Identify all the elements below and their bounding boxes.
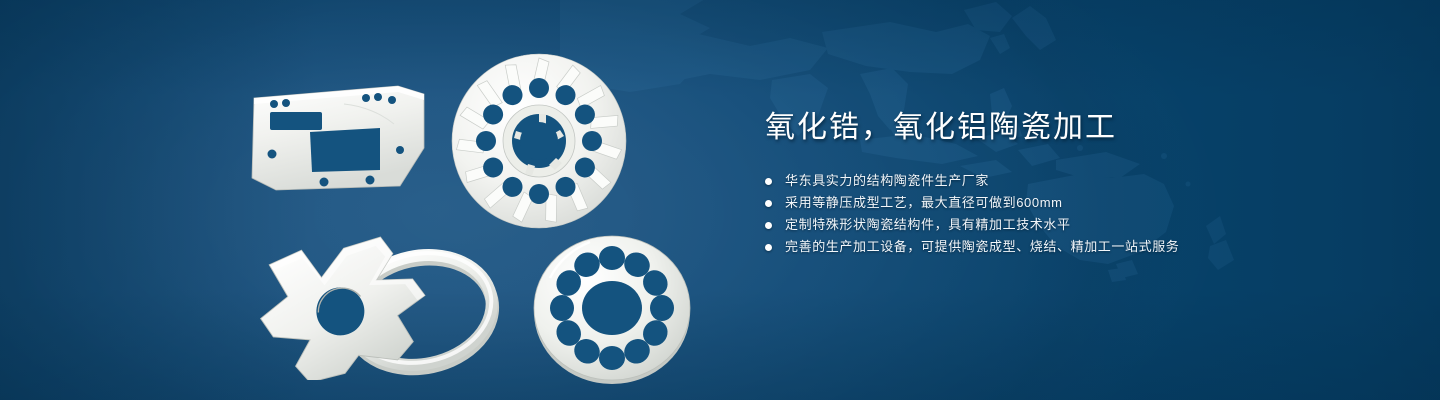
- ceramic-plate: [248, 82, 428, 194]
- page-title: 氧化锆，氧化铝陶瓷加工: [765, 108, 1385, 148]
- banner-copy: 氧化锆，氧化铝陶瓷加工 华东具实力的结构陶瓷件生产厂家 采用等静压成型工艺，最大…: [765, 108, 1385, 258]
- bullet-text: 完善的生产加工设备，可提供陶瓷成型、烧结、精加工一站式服务: [785, 236, 1179, 258]
- list-item: 完善的生产加工设备，可提供陶瓷成型、烧结、精加工一站式服务: [765, 236, 1385, 258]
- bullet-dot-icon: [765, 244, 772, 251]
- bullet-dot-icon: [765, 200, 772, 207]
- feature-bullet-list: 华东具实力的结构陶瓷件生产厂家 采用等静压成型工艺，最大直径可做到600mm 定…: [765, 170, 1385, 258]
- bullet-text: 华东具实力的结构陶瓷件生产厂家: [785, 170, 989, 192]
- bullet-dot-icon: [765, 222, 772, 229]
- bullet-text: 定制特殊形状陶瓷结构件，具有精加工技术水平: [785, 214, 1071, 236]
- ceramic-impeller: [448, 50, 630, 232]
- ceramic-perforated-disc: [525, 230, 700, 390]
- product-photo-collage: [230, 40, 700, 370]
- list-item: 定制特殊形状陶瓷结构件，具有精加工技术水平: [765, 214, 1385, 236]
- bullet-text: 采用等静压成型工艺，最大直径可做到600mm: [785, 192, 1063, 214]
- bullet-dot-icon: [765, 178, 772, 185]
- list-item: 华东具实力的结构陶瓷件生产厂家: [765, 170, 1385, 192]
- ceramic-cross-and-ring: [240, 230, 530, 380]
- list-item: 采用等静压成型工艺，最大直径可做到600mm: [765, 192, 1385, 214]
- promo-banner: 氧化锆，氧化铝陶瓷加工 华东具实力的结构陶瓷件生产厂家 采用等静压成型工艺，最大…: [0, 0, 1440, 400]
